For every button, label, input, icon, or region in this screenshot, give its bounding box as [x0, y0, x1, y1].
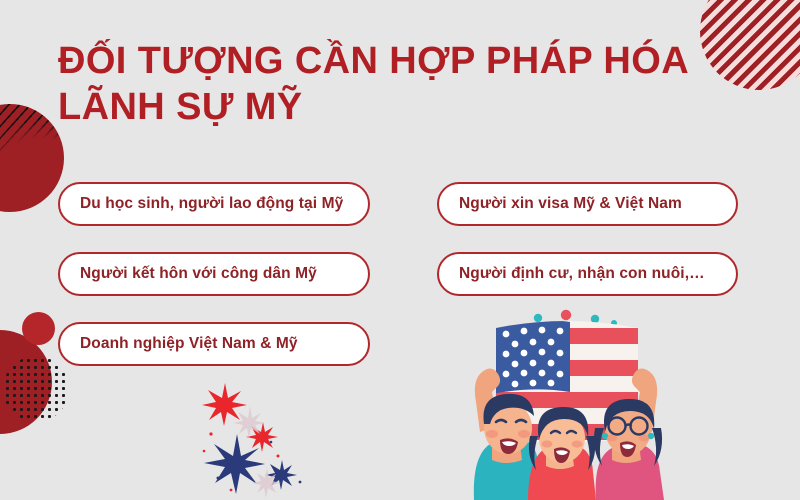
- audience-pill-left-2-label: Người kết hôn với công dân Mỹ: [80, 265, 317, 283]
- audience-pill-left-1[interactable]: Du học sinh, người lao động tại Mỹ: [58, 182, 370, 226]
- audience-pill-left-3-label: Doanh nghiệp Việt Nam & Mỹ: [80, 335, 298, 353]
- lower-left-circle-decoration: [0, 330, 52, 434]
- small-red-dot-decoration: [22, 312, 55, 345]
- page-title-line-2: LÃNH SỰ MỸ: [58, 84, 718, 130]
- page-title-line-1: ĐỐI TƯỢNG CẦN HỢP PHÁP HÓA: [58, 38, 718, 84]
- sparkle-cluster-icon: [185, 378, 315, 498]
- infographic-canvas: ĐỐI TƯỢNG CẦN HỢP PHÁP HÓA LÃNH SỰ MỸ Du…: [0, 0, 800, 500]
- audience-pill-left-3[interactable]: Doanh nghiệp Việt Nam & Mỹ: [58, 322, 370, 366]
- left-solid-circle-decoration: [0, 104, 64, 212]
- audience-pill-right-2[interactable]: Người định cư, nhận con nuôi,…: [437, 252, 738, 296]
- audience-pill-right-1-label: Người xin visa Mỹ & Việt Nam: [459, 195, 682, 213]
- left-hatched-circle-decoration: [0, 104, 64, 212]
- page-title: ĐỐI TƯỢNG CẦN HỢP PHÁP HÓA LÃNH SỰ MỸ: [58, 38, 718, 130]
- audience-pill-left-2[interactable]: Người kết hôn với công dân Mỹ: [58, 252, 370, 296]
- audience-pill-left-1-label: Du học sinh, người lao động tại Mỹ: [80, 195, 343, 213]
- audience-pill-right-2-label: Người định cư, nhận con nuôi,…: [459, 265, 705, 283]
- audience-pill-right-1[interactable]: Người xin visa Mỹ & Việt Nam: [437, 182, 738, 226]
- cheering-people-with-us-flag-illustration: [462, 306, 670, 500]
- halftone-dot-circle-decoration: [3, 356, 69, 422]
